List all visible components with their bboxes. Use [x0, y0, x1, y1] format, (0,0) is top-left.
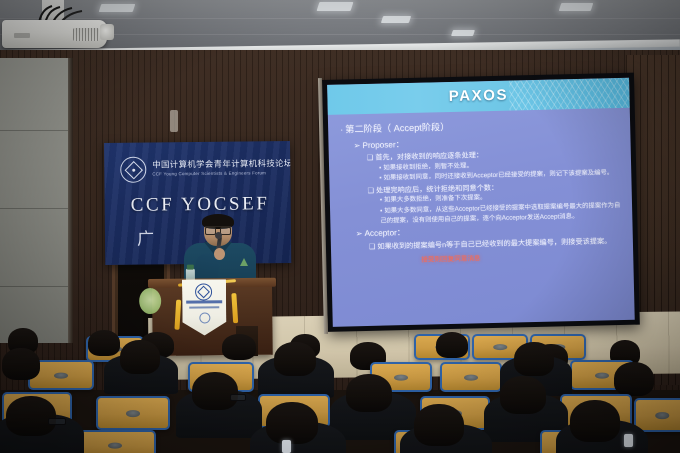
audience-head	[2, 348, 40, 380]
slide-surface: PAXOS ·第二阶段（ Accept阶段） ➢Proposer： ❑首先，对接…	[327, 78, 635, 327]
slide-body: ·第二阶段（ Accept阶段） ➢Proposer： ❑首先，对接收到的响应逐…	[328, 108, 634, 269]
audience-head	[274, 342, 316, 376]
audience-head	[570, 400, 620, 442]
projector-body	[2, 20, 107, 48]
bullet-text: 如果大多数同意，从这些Acceptor已经接受的提案中选取提案编号最大的提案作为…	[380, 202, 620, 225]
bullet-marker: ❑	[369, 241, 376, 250]
bullet-marker: ▪	[380, 197, 382, 204]
left-panel-edge	[68, 58, 73, 343]
banner-main-title: CCF YOCSEF	[131, 193, 291, 217]
audience-head	[266, 402, 318, 444]
bullet-marker: ▪	[379, 175, 381, 182]
speaker-hand	[214, 248, 225, 260]
projector-vent-icon	[73, 28, 99, 41]
ceiling-light-icon	[317, 2, 354, 11]
bullet-marker: ➢	[353, 141, 360, 150]
bullet-marker: ▪	[380, 207, 382, 214]
banner-sub-title: 广	[137, 224, 156, 249]
bullet-text: Proposer：	[362, 140, 404, 150]
audience-head	[6, 396, 56, 436]
smartphone-screen[interactable]	[282, 440, 291, 453]
seat-knob-icon	[126, 410, 140, 418]
microphone-head-icon	[215, 232, 222, 239]
slide-red-note: 接受则回复同意消息	[421, 251, 623, 266]
audience-head	[414, 404, 464, 446]
pennant-seal-icon	[199, 312, 210, 323]
bullet-marker: ➢	[356, 229, 363, 238]
audience-head	[120, 340, 160, 374]
smartphone-screen[interactable]	[624, 434, 633, 447]
pennant-green-emblem	[139, 288, 161, 314]
seat-knob-icon	[595, 372, 609, 379]
bullet-marker: ❑	[367, 153, 374, 162]
left-stone-panel-wall	[0, 58, 68, 343]
audience-head	[614, 362, 654, 396]
auditorium-seat	[74, 430, 156, 453]
seat-knob-icon	[108, 442, 122, 449]
audience-head	[88, 330, 120, 356]
bullet-text: 首先，对接收到的响应逐条处理：	[375, 150, 483, 162]
bullet-marker: ·	[340, 125, 343, 135]
audience-area	[0, 326, 680, 453]
projector-lens-icon	[100, 24, 114, 40]
auditorium-seat	[634, 398, 680, 432]
audience-head	[192, 372, 238, 410]
audience-head	[514, 342, 554, 376]
eyeglasses-icon	[48, 418, 66, 425]
bullet-text: Acceptor：	[364, 228, 405, 238]
wall-mounted-speaker	[170, 110, 178, 132]
pennant-ccf-logo-icon	[195, 283, 212, 300]
bullet-marker: ❑	[367, 185, 374, 194]
seat-knob-icon	[655, 412, 669, 420]
ccf-logo-icon	[120, 157, 146, 183]
seat-knob-icon	[493, 345, 507, 351]
audience-head	[222, 334, 256, 360]
audience-head	[436, 332, 468, 358]
seat-knob-icon	[54, 372, 68, 379]
pennant-text-line	[189, 306, 219, 309]
bullet-text: 如果接收到拒绝，则暂不处理。	[383, 162, 473, 171]
pennant-tassel	[231, 293, 238, 323]
banner-org-name-cn: 中国计算机学会青年计算机科技论坛	[152, 157, 282, 170]
audience-head	[346, 374, 392, 412]
pennant-text-line	[186, 300, 222, 303]
bottle-cap-icon	[187, 265, 194, 270]
auditorium-seat	[96, 396, 170, 430]
seat-knob-icon	[394, 374, 408, 381]
ceiling-light-icon	[451, 30, 475, 36]
projector-brand-badge	[14, 33, 30, 38]
bullet-text: 第二阶段（ Accept阶段）	[345, 122, 449, 134]
lecture-hall-photo: PAXOS ·第二阶段（ Accept阶段） ➢Proposer： ❑首先，对接…	[0, 0, 680, 453]
ceiling-light-icon	[381, 16, 411, 23]
projection-screen: PAXOS ·第二阶段（ Accept阶段） ➢Proposer： ❑首先，对接…	[322, 73, 640, 332]
banner-org-name-en: CCF Young Computer Scientists & Engineer…	[152, 170, 284, 176]
eyeglasses-icon	[230, 394, 246, 401]
bullet-marker: ▪	[379, 164, 381, 171]
seat-knob-icon	[464, 374, 478, 381]
ceiling-light-icon	[99, 4, 136, 12]
bullet-text: 如果大多数拒绝，则准备下次提案。	[384, 194, 486, 203]
ceiling-light-icon	[559, 3, 594, 11]
auditorium-seat	[440, 362, 502, 392]
audience-head	[500, 376, 546, 414]
